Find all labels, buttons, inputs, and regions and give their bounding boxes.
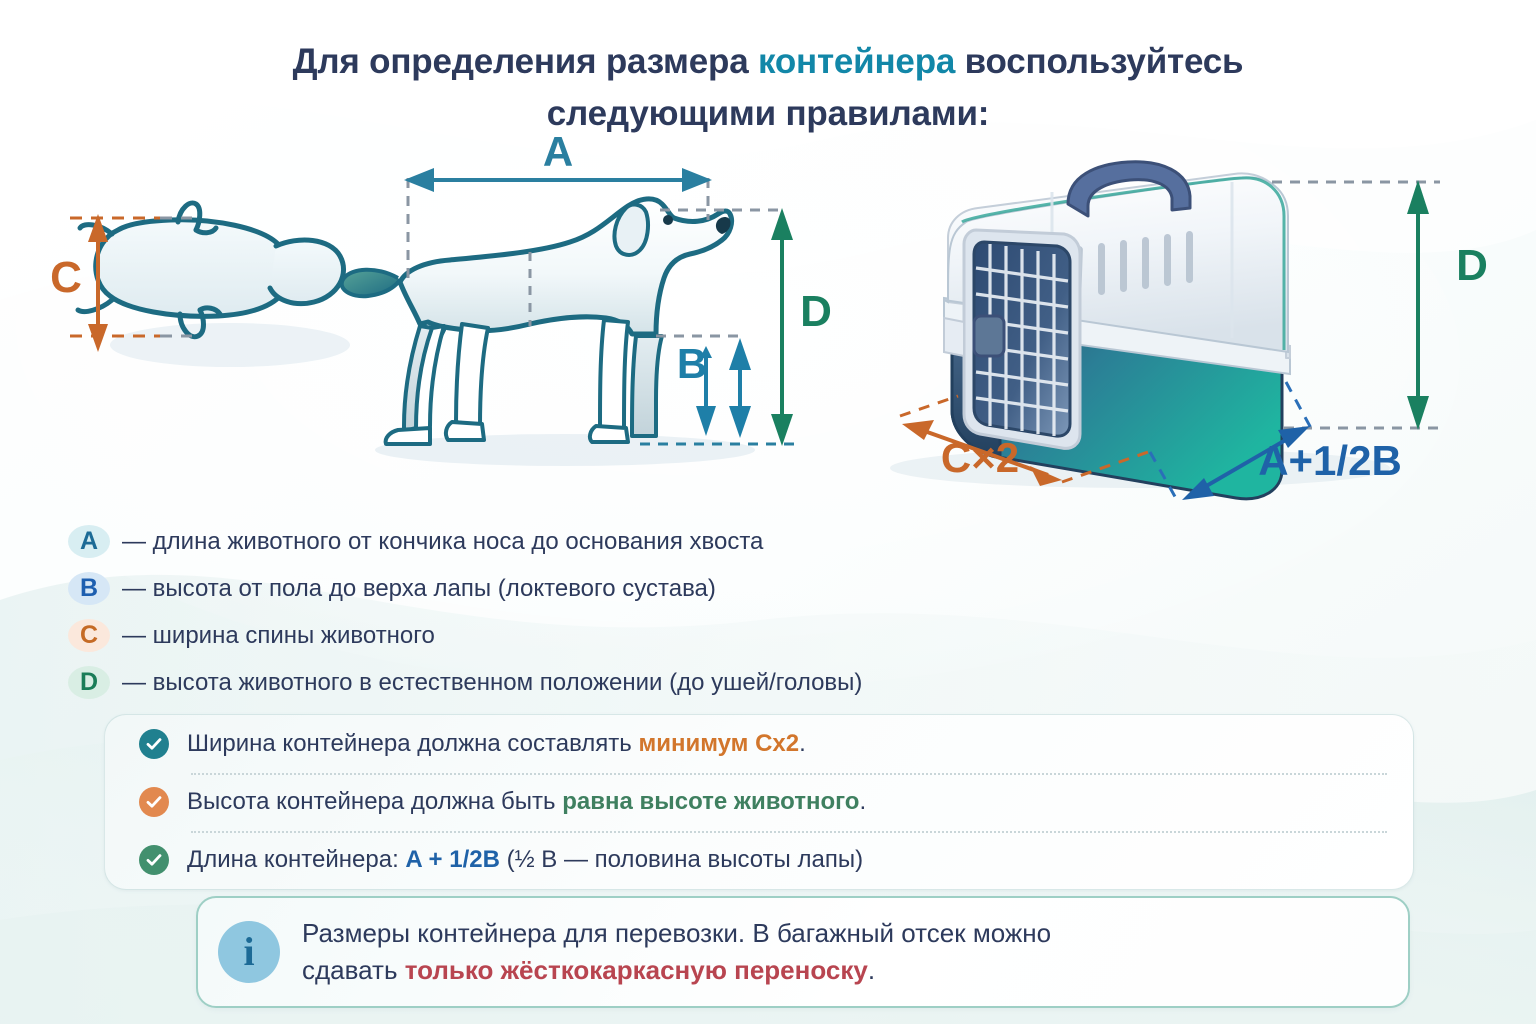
checklist-highlight-2: равна высоте животного [562, 788, 859, 815]
info-line-2-pre: сдавать [302, 955, 405, 985]
check-icon [139, 729, 169, 759]
rules-checklist-card: Ширина контейнера должна составлять мини… [104, 714, 1414, 890]
checklist-highlight-1: минимум Сx2 [638, 730, 799, 757]
title-text-after: воспользуйтесь [955, 42, 1243, 81]
legend-badge-a: A [68, 525, 110, 558]
info-note-box: i Размеры контейнера для перевозки. В ба… [196, 896, 1410, 1008]
info-line-2-post: . [868, 955, 875, 985]
page-title: Для определения размера контейнера воспо… [0, 36, 1536, 140]
checklist-item-width: Ширина контейнера должна составлять мини… [105, 715, 1413, 773]
info-line-1: Размеры контейнера для перевозки. В бага… [302, 918, 1051, 948]
checklist-pre-3: Длина контейнера: [187, 846, 405, 873]
legend-item-c: C — ширина спины животного [68, 612, 1168, 659]
info-line-2-highlight: только жёсткокаркасную переноску [405, 955, 868, 985]
legend-item-a: A — длина животного от кончика носа до о… [68, 518, 1168, 565]
info-note-text: Размеры контейнера для перевозки. В бага… [302, 915, 1051, 989]
checklist-post-2: . [859, 788, 866, 815]
legend-item-b: B — высота от пола до верха лапы (локтев… [68, 565, 1168, 612]
checklist-item-length: Длина контейнера: A + 1/2B (½ В — полови… [105, 831, 1413, 889]
legend-text-d: — высота животного в естественном положе… [122, 669, 862, 697]
carrier-dimension-label-a-half-b: A+1/2B [1258, 437, 1402, 484]
check-icon [139, 845, 169, 875]
title-text-before: Для определения размера [293, 42, 758, 81]
legend-text-b: — высота от пола до верха лапы (локтевог… [122, 575, 716, 603]
legend-list: A — длина животного от кончика носа до о… [68, 518, 1168, 706]
dimension-label-b: B [677, 340, 707, 387]
measurement-diagram: C A [0, 130, 1536, 520]
pet-carrier-illustration: D C×2 A+1/2B [890, 162, 1488, 502]
title-accent-word: контейнера [758, 42, 955, 81]
dog-top-view-illustration: C [50, 203, 350, 367]
checklist-pre-2: Высота контейнера должна быть [187, 788, 562, 815]
checklist-post-1: . [799, 730, 806, 757]
checklist-post-3: (½ В — половина высоты лапы) [500, 846, 863, 873]
check-icon [139, 787, 169, 817]
carrier-dimension-label-d: D [1456, 241, 1488, 290]
legend-text-a: — длина животного от кончика носа до осн… [122, 528, 763, 556]
checklist-highlight-3: A + 1/2B [405, 846, 500, 873]
info-icon: i [218, 921, 280, 983]
checklist-text-width: Ширина контейнера должна составлять мини… [187, 730, 806, 758]
legend-badge-d: D [68, 666, 110, 699]
dog-side-view-illustration: A D B [342, 130, 832, 466]
dimension-label-d: D [800, 287, 832, 336]
legend-text-c: — ширина спины животного [122, 622, 435, 650]
checklist-pre-1: Ширина контейнера должна составлять [187, 730, 638, 757]
legend-item-d: D — высота животного в естественном поло… [68, 659, 1168, 706]
title-line-1: Для определения размера контейнера воспо… [0, 36, 1536, 88]
checklist-item-height: Высота контейнера должна быть равна высо… [105, 773, 1413, 831]
checklist-text-height: Высота контейнера должна быть равна высо… [187, 788, 866, 816]
dimension-label-c: C [50, 253, 82, 302]
checklist-text-length: Длина контейнера: A + 1/2B (½ В — полови… [187, 846, 863, 874]
carrier-dimension-label-cx2: C×2 [941, 434, 1019, 481]
legend-badge-b: B [68, 572, 110, 605]
title-line-2: следующими правилами: [0, 88, 1536, 140]
legend-badge-c: C [68, 619, 110, 652]
